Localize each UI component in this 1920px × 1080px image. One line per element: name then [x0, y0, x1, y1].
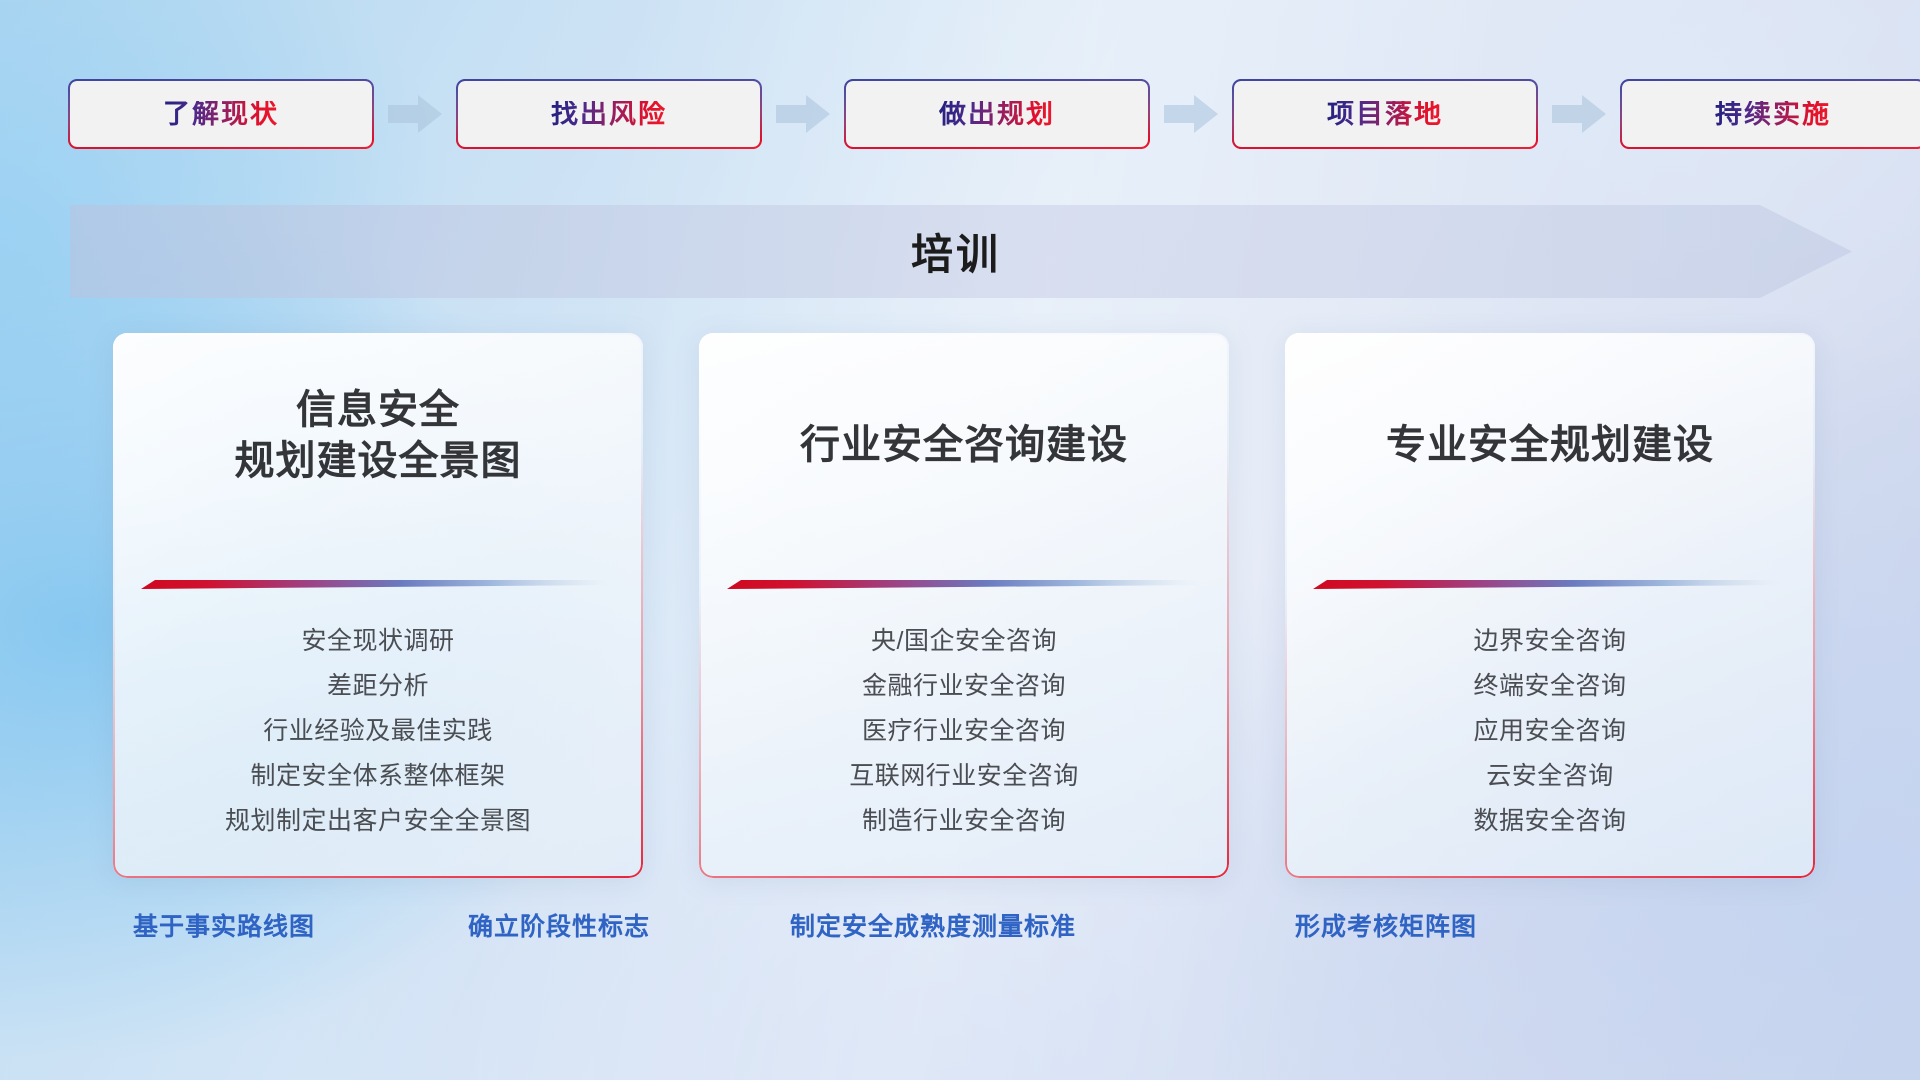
card-group: 信息安全 规划建设全景图 安全现状调研差距分析行业经验及最佳实践制定安全体系整体…: [113, 333, 1813, 878]
list-item: 应用安全咨询: [1313, 709, 1787, 754]
arrow-right-icon: [1164, 94, 1218, 134]
process-step-label: 项目落地: [1327, 101, 1443, 128]
process-step-4[interactable]: 项目落地: [1232, 79, 1538, 149]
card-divider: [727, 580, 1201, 589]
caption-2: 确立阶段性标志: [468, 915, 650, 940]
caption-4: 形成考核矩阵图: [1295, 915, 1477, 940]
list-item: 云安全咨询: [1313, 754, 1787, 799]
caption-row: 基于事实路线图确立阶段性标志制定安全成熟度测量标准形成考核矩阵图: [0, 915, 1920, 957]
card-item-list: 安全现状调研差距分析行业经验及最佳实践制定安全体系整体框架规划制定出客户安全全景…: [141, 589, 615, 878]
list-item: 央/国企安全咨询: [727, 619, 1201, 664]
list-item: 安全现状调研: [141, 619, 615, 664]
list-item: 金融行业安全咨询: [727, 664, 1201, 709]
card-item-list: 边界安全咨询终端安全咨询应用安全咨询云安全咨询数据安全咨询: [1313, 589, 1787, 878]
service-card-1[interactable]: 信息安全 规划建设全景图 安全现状调研差距分析行业经验及最佳实践制定安全体系整体…: [113, 333, 643, 878]
card-title: 行业安全咨询建设: [800, 401, 1128, 471]
process-step-1[interactable]: 了解现状: [68, 79, 374, 149]
card-title: 专业安全规划建设: [1386, 401, 1714, 471]
list-item: 制造行业安全咨询: [727, 799, 1201, 844]
card-title-block: 专业安全规划建设: [1313, 367, 1787, 505]
card-divider: [141, 580, 615, 589]
banner-title: 培训: [70, 205, 1852, 298]
arrow-right-icon: [388, 94, 442, 134]
card-title: 信息安全 规划建设全景图: [235, 385, 522, 487]
list-item: 规划制定出客户安全全景图: [141, 799, 615, 844]
process-step-label: 做出规划: [939, 101, 1055, 128]
list-item: 制定安全体系整体框架: [141, 754, 615, 799]
training-banner: 培训: [70, 205, 1852, 298]
card-title-block: 行业安全咨询建设: [727, 367, 1201, 505]
caption-3: 制定安全成熟度测量标准: [790, 915, 1076, 940]
list-item: 终端安全咨询: [1313, 664, 1787, 709]
list-item: 数据安全咨询: [1313, 799, 1787, 844]
list-item: 边界安全咨询: [1313, 619, 1787, 664]
process-step-label: 持续实施: [1715, 101, 1831, 128]
service-card-3[interactable]: 专业安全规划建设 边界安全咨询终端安全咨询应用安全咨询云安全咨询数据安全咨询: [1285, 333, 1815, 878]
card-title-block: 信息安全 规划建设全景图: [141, 367, 615, 505]
card-body: 行业安全咨询建设 央/国企安全咨询金融行业安全咨询医疗行业安全咨询互联网行业安全…: [699, 333, 1229, 878]
process-step-5[interactable]: 持续实施: [1620, 79, 1920, 149]
list-item: 医疗行业安全咨询: [727, 709, 1201, 754]
list-item: 互联网行业安全咨询: [727, 754, 1201, 799]
caption-1: 基于事实路线图: [133, 915, 315, 940]
list-item: 差距分析: [141, 664, 615, 709]
list-item: 行业经验及最佳实践: [141, 709, 615, 754]
process-step-row: 了解现状 找出风险 做出规划 项目落地 持续实施: [68, 79, 1858, 149]
process-step-label: 了解现状: [163, 101, 279, 128]
card-body: 专业安全规划建设 边界安全咨询终端安全咨询应用安全咨询云安全咨询数据安全咨询: [1285, 333, 1815, 878]
process-step-2[interactable]: 找出风险: [456, 79, 762, 149]
card-divider: [1313, 580, 1787, 589]
arrow-right-icon: [776, 94, 830, 134]
service-card-2[interactable]: 行业安全咨询建设 央/国企安全咨询金融行业安全咨询医疗行业安全咨询互联网行业安全…: [699, 333, 1229, 878]
arrow-right-icon: [1552, 94, 1606, 134]
process-step-3[interactable]: 做出规划: [844, 79, 1150, 149]
card-item-list: 央/国企安全咨询金融行业安全咨询医疗行业安全咨询互联网行业安全咨询制造行业安全咨…: [727, 589, 1201, 878]
card-body: 信息安全 规划建设全景图 安全现状调研差距分析行业经验及最佳实践制定安全体系整体…: [113, 333, 643, 878]
process-step-label: 找出风险: [551, 101, 667, 128]
